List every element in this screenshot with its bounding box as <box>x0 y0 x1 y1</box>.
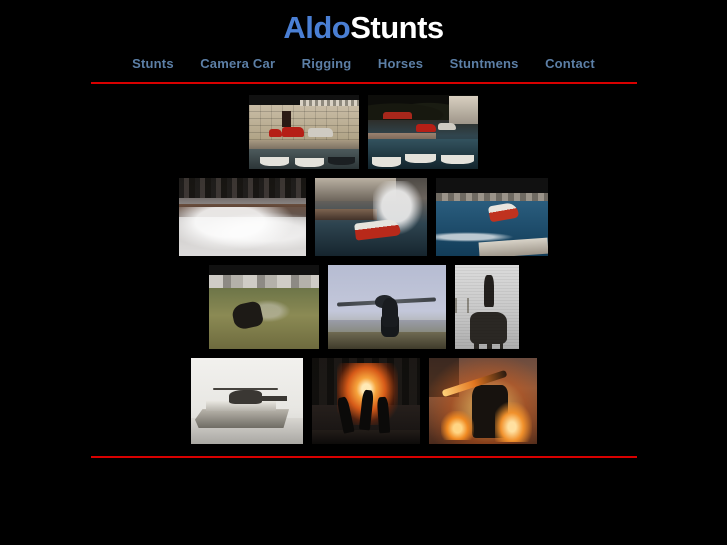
site-header: AldoStunts Stunts Camera Car Rigging Hor… <box>0 0 727 84</box>
red-van <box>269 129 282 137</box>
dock <box>315 209 377 221</box>
thumb-image <box>429 358 537 444</box>
crowd <box>179 178 306 198</box>
ground <box>312 430 420 444</box>
gallery-row <box>0 95 727 169</box>
white-car <box>438 123 456 130</box>
stone-wall <box>249 105 359 141</box>
site-logo: AldoStunts <box>0 12 727 45</box>
thumb-image <box>249 95 359 169</box>
doorway <box>282 111 291 127</box>
thumb-pier-crash-spray-crowd[interactable] <box>179 178 306 256</box>
thumb-harbour-stone-wall-cars[interactable] <box>249 95 359 169</box>
red-car <box>416 124 436 132</box>
thumb-boat-crash-dock-explosion-spray[interactable] <box>315 178 427 256</box>
water-spray <box>179 207 306 255</box>
gallery-row <box>0 178 727 256</box>
thumb-image <box>315 178 427 256</box>
small-boat <box>441 155 474 164</box>
nav-item-rigging[interactable]: Rigging <box>291 55 363 73</box>
helicopter-tail <box>260 396 287 400</box>
thumb-image <box>436 178 548 256</box>
moored-boat <box>295 158 324 167</box>
nav-item-contact[interactable]: Contact <box>534 55 606 73</box>
logo-text-stunts: Stunts <box>350 10 443 45</box>
header-divider <box>91 82 637 84</box>
thumb-image <box>455 265 519 349</box>
flame <box>495 402 532 442</box>
white-car <box>308 128 332 138</box>
thumb-horse-fall-field-stunt[interactable] <box>209 265 319 349</box>
thumb-image <box>312 358 420 444</box>
quay-edge <box>249 140 359 149</box>
logo-text-aldo: Aldo <box>283 10 350 45</box>
red-awning <box>383 112 412 119</box>
small-boat <box>372 157 401 167</box>
nav-item-stunts[interactable]: Stunts <box>121 55 185 73</box>
balustrade <box>300 100 359 106</box>
thumb-marina-red-awning-boats[interactable] <box>368 95 478 169</box>
nav-item-stuntmens[interactable]: Stuntmens <box>439 55 530 73</box>
nav-item-horses[interactable]: Horses <box>367 55 434 73</box>
photo-gallery <box>0 95 727 444</box>
gallery-row <box>0 358 727 444</box>
helicopter-body <box>229 390 263 404</box>
thumb-standing-on-galloping-horse-bw[interactable] <box>455 265 519 349</box>
red-car <box>282 127 304 137</box>
thumb-image <box>191 358 303 444</box>
footer-divider <box>91 456 637 458</box>
thumb-image <box>209 265 319 349</box>
thumb-image <box>328 265 446 349</box>
thumb-explosion-with-stuntmen[interactable] <box>312 358 420 444</box>
building <box>449 96 478 124</box>
main-navigation: Stunts Camera Car Rigging Horses Stuntme… <box>0 55 727 73</box>
flame <box>441 411 473 440</box>
moored-boat <box>260 157 289 166</box>
film-grain <box>455 265 519 349</box>
thumb-helicopter-landing-on-yacht[interactable] <box>191 358 303 444</box>
yacht-hull <box>195 409 289 428</box>
thumb-speedboat-jump-blue-sea[interactable] <box>436 178 548 256</box>
nav-item-camera-car[interactable]: Camera Car <box>189 55 286 73</box>
thumb-image <box>368 95 478 169</box>
thumb-image <box>179 178 306 256</box>
moored-boat <box>328 157 354 165</box>
thumb-motorcycle-versus-plane[interactable] <box>328 265 446 349</box>
gallery-row <box>0 265 727 349</box>
small-boat <box>405 154 436 163</box>
rider <box>382 298 399 327</box>
thumb-burning-wreck-fire-stunt[interactable] <box>429 358 537 444</box>
helicopter-rotor <box>213 388 278 391</box>
